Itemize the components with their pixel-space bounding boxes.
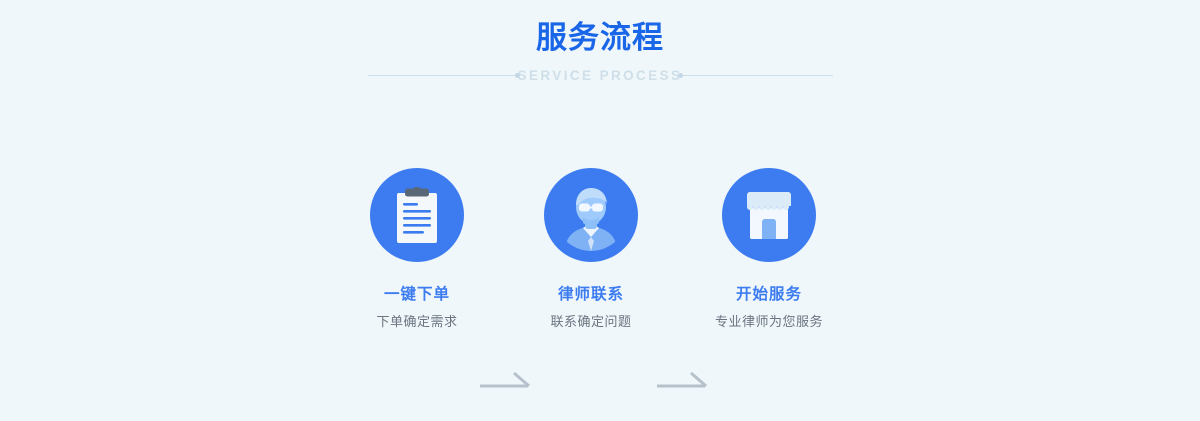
process-step-3[interactable]: 开始服务 专业律师为您服务	[679, 168, 859, 332]
step-2-description: 联系确定问题	[501, 314, 681, 332]
section-header: 服务流程 SERVICE PROCESS	[0, 18, 1200, 90]
service-process-section: 服务流程 SERVICE PROCESS	[0, 0, 1200, 421]
step-1-description: 下单确定需求	[327, 314, 507, 332]
step-3-description: 专业律师为您服务	[679, 314, 859, 332]
process-step-2[interactable]: 律师联系 联系确定问题	[501, 168, 681, 332]
step-3-icon-circle	[722, 168, 816, 262]
process-step-1[interactable]: 一键下单 下单确定需求	[327, 168, 507, 332]
subtitle-row: SERVICE PROCESS	[0, 66, 1200, 90]
step-1-icon-circle	[370, 168, 464, 262]
page-subtitle: SERVICE PROCESS	[0, 66, 1200, 86]
step-2-icon-circle	[544, 168, 638, 262]
step-3-title: 开始服务	[679, 284, 859, 304]
arrow-right-icon	[655, 368, 711, 396]
arrow-right-icon	[478, 368, 534, 396]
process-steps: 一键下单 下单确定需求	[0, 168, 1200, 338]
page-title: 服务流程	[0, 18, 1200, 58]
step-1-title: 一键下单	[327, 284, 507, 304]
step-2-title: 律师联系	[501, 284, 681, 304]
